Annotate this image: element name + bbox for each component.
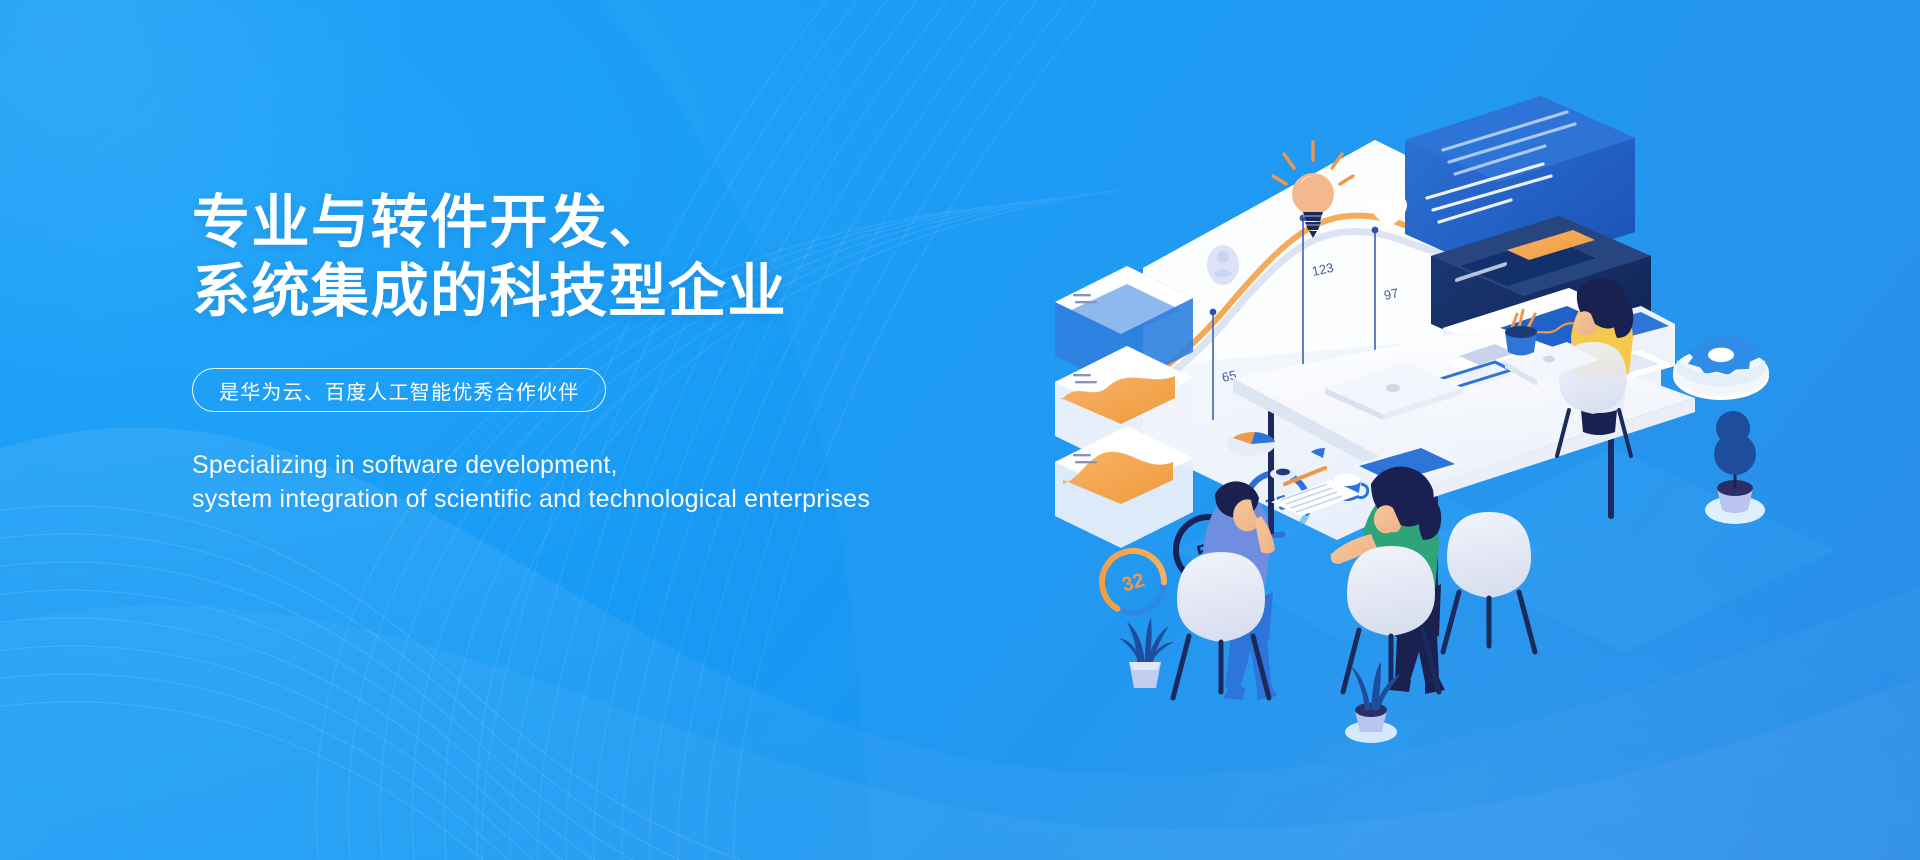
gauge-32: 32 [1091, 540, 1176, 625]
pie-chart-large [1227, 432, 1275, 456]
subtitle-line-1: Specializing in software development, [192, 448, 1052, 482]
hero-copy: 专业与转件开发、 系统集成的科技型企业 是华为云、百度人工智能优秀合作伙伴 Sp… [192, 188, 1052, 516]
chair-left [1173, 552, 1269, 698]
subtitle-line-2: system integration of scientific and tec… [192, 482, 1052, 516]
headline-line-2: 系统集成的科技型企业 [192, 257, 1052, 326]
partner-badge: 是华为云、百度人工智能优秀合作伙伴 [192, 368, 606, 412]
avatar-icon [1207, 245, 1239, 285]
chair-right [1443, 512, 1535, 652]
page-title: 专业与转件开发、 系统集成的科技型企业 [192, 188, 1052, 326]
hero-banner: 专业与转件开发、 系统集成的科技型企业 是华为云、百度人工智能优秀合作伙伴 Sp… [0, 0, 1920, 860]
headline-line-1: 专业与转件开发、 [192, 190, 668, 255]
mini-cards [1055, 266, 1193, 548]
gear-icon [1673, 335, 1769, 400]
subtitle: Specializing in software development, sy… [192, 448, 1052, 516]
topiary-plant [1705, 411, 1765, 524]
hero-illustration: 65 123 97 81 [1075, 80, 1905, 780]
plant-left [1119, 618, 1174, 688]
chart-label-2: 97 [1383, 285, 1400, 303]
saucer [1270, 468, 1296, 480]
